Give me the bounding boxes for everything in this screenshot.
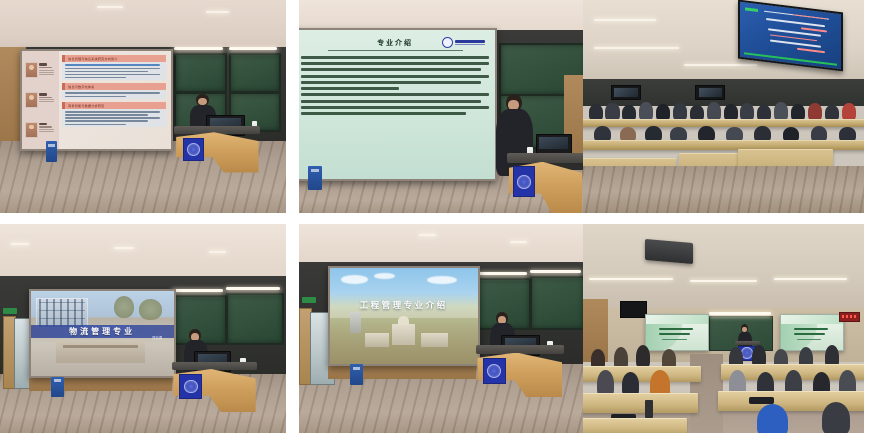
slide-surface: 信息管理与信息系统研究方向简介 信息与数字化体系 (22, 51, 171, 149)
auditorium-scene (583, 0, 864, 213)
logo-line-secondary (455, 44, 485, 45)
body-line (301, 87, 399, 90)
logistics-major-slide: 物流管理专业 郑自源 (31, 291, 174, 377)
building-wing-right (421, 333, 448, 346)
university-logo (442, 37, 485, 48)
campus-gate (56, 340, 145, 362)
display-text-line-red (792, 15, 826, 21)
board-light-right (530, 270, 581, 273)
ceiling (583, 224, 864, 312)
podium-crest-banner[interactable] (179, 374, 202, 399)
faculty-card (25, 122, 56, 138)
podium (172, 362, 258, 412)
bullet-line (65, 68, 160, 70)
title-underline (328, 50, 463, 51)
recycle-bin (46, 141, 57, 162)
faculty-line (39, 101, 55, 102)
screen-header-band (646, 315, 708, 324)
podium-crest-banner[interactable] (513, 166, 535, 197)
student (589, 104, 603, 121)
body-line (301, 100, 481, 103)
bullet-line (65, 120, 147, 122)
faculty-line (39, 129, 55, 130)
bullet-line (65, 111, 160, 113)
faculty-text (39, 122, 56, 133)
ceiling-light-3 (684, 64, 757, 66)
slide-section: 信息管理与信息系统研究方向简介 (62, 55, 166, 80)
portrait-photo (25, 62, 38, 78)
student (791, 104, 805, 121)
faculty-line (39, 99, 55, 100)
building-wing-left (365, 333, 389, 346)
main-hall-dome (398, 316, 408, 326)
slide-surface: 专业介绍 (299, 30, 495, 179)
photo-panel-bottom-right (583, 224, 864, 433)
body-line (301, 75, 489, 78)
projection-screen: 专业介绍 (299, 28, 497, 181)
cloud (427, 276, 457, 284)
board-light-left (172, 289, 223, 292)
faculty-line (39, 74, 55, 75)
body-line (301, 112, 466, 115)
slide-tag-icon (745, 8, 758, 13)
podium-crest-banner[interactable] (183, 138, 204, 162)
board-light-left (174, 47, 223, 50)
projection-screen: 物流管理专业 郑自源 (29, 289, 176, 379)
bullet-line (65, 92, 160, 94)
tablet-device (749, 397, 774, 403)
student (622, 105, 636, 121)
display-text-line (770, 40, 821, 48)
bullet-line (65, 124, 126, 126)
board-light (709, 312, 771, 315)
body-line (301, 106, 489, 109)
slide-surface: 物流管理专业 郑自源 (31, 291, 174, 377)
slide-body (301, 56, 489, 116)
projection-screen: 信息管理与信息系统研究方向简介 信息与数字化体系 (20, 49, 173, 151)
podium (174, 126, 260, 173)
faculty-text (39, 62, 56, 75)
podium-top (507, 153, 584, 163)
ceiling-light-2 (206, 11, 229, 13)
slide-title: 物流管理专业 (69, 326, 135, 337)
screen-title-line (659, 333, 690, 335)
ceiling-light-2 (510, 241, 527, 243)
section-body (62, 90, 166, 99)
lecture-hall-scene: 工程管理专业介绍 (299, 224, 584, 433)
lecture-hall-scene: 物流管理专业 郑自源 (0, 224, 286, 433)
section-heading: 信息管理与信息系统研究方向简介 (62, 55, 166, 62)
university-crest-icon (187, 143, 200, 156)
presenter-monitor (536, 134, 572, 155)
lecture-hall-scene: 信息管理与信息系统研究方向简介 信息与数字化体系 (0, 0, 286, 213)
recycle-bin (350, 364, 363, 385)
slide-surface: 工程管理专业介绍 (330, 268, 478, 364)
section-heading: 信息与数字化体系 (62, 83, 166, 90)
faculty-name (39, 63, 47, 65)
recycle-bin (308, 166, 322, 189)
slide-section: 信息与数字化体系 (62, 83, 166, 99)
classroom-scene (583, 224, 864, 433)
body-line (301, 68, 481, 71)
podium-top (172, 362, 258, 371)
screen-header-band (781, 315, 843, 324)
slide-title: 工程管理专业介绍 (330, 299, 478, 311)
student (690, 105, 704, 121)
podium-top (174, 126, 260, 134)
student (757, 404, 788, 433)
bullet-line (65, 71, 147, 73)
podium (507, 153, 584, 213)
logo-line-primary (455, 40, 485, 43)
slide-subtitle: 郑自源 (152, 335, 162, 340)
tree (139, 299, 162, 320)
ceiling (0, 224, 286, 280)
bullet-line (65, 64, 160, 66)
body-line (301, 62, 489, 65)
faculty-subtitle (39, 67, 52, 68)
section-column: 信息管理与信息系统研究方向简介 信息与数字化体系 (59, 51, 171, 149)
ceiling (299, 224, 584, 266)
chalkboard-right (226, 293, 284, 345)
bullet-line (65, 96, 126, 98)
recycle-bin (51, 377, 64, 398)
exit-sign-icon (302, 297, 316, 303)
student (740, 103, 754, 121)
side-monitor-left (611, 85, 641, 100)
photo-panel-top-right (583, 0, 864, 213)
board-light-left (476, 272, 527, 275)
student (673, 103, 687, 121)
projection-screen: 工程管理专业介绍 (328, 266, 480, 366)
cloud (374, 273, 395, 280)
faculty-line (39, 72, 55, 73)
photo-grid: 信息管理与信息系统研究方向简介 信息与数字化体系 (0, 0, 874, 433)
led-banner-sign (839, 312, 861, 322)
faculty-card (25, 62, 56, 78)
student (724, 104, 738, 121)
photo-panel-bottom-left: 物流管理专业 郑自源 (0, 224, 286, 433)
exit-sign-icon (3, 308, 17, 314)
body-line (301, 93, 489, 96)
university-crest-icon (487, 364, 501, 378)
faculty-research-slide: 信息管理与信息系统研究方向简介 信息与数字化体系 (22, 51, 171, 149)
screen-title-line (794, 333, 825, 335)
student (707, 102, 721, 121)
faculty-name (39, 123, 47, 125)
tree (114, 296, 134, 318)
cloud (341, 275, 368, 284)
faculty-line (39, 131, 55, 132)
board-light-right (226, 287, 280, 290)
body-line (301, 56, 489, 59)
bullet-line (65, 77, 126, 79)
logo-wordmark (455, 40, 485, 45)
section-body (62, 62, 166, 80)
faculty-line (39, 70, 55, 71)
side-monitor (620, 301, 647, 318)
podium-top (735, 341, 760, 345)
faculty-card (25, 92, 56, 108)
floor (583, 166, 864, 213)
logo-ring-icon (442, 37, 453, 48)
thermos-cup (645, 400, 653, 419)
display-text-line-red (800, 28, 826, 33)
desk-row (583, 393, 698, 413)
student (757, 105, 771, 121)
photo-panel-bottom-middle: 工程管理专业介绍 (299, 224, 584, 433)
student (774, 102, 788, 121)
student (639, 102, 653, 121)
student (825, 105, 839, 121)
podium-crest-banner[interactable] (483, 358, 506, 384)
lecture-hall-scene: 专业介绍 (299, 0, 584, 213)
bullet-line (65, 117, 160, 119)
podium-top (476, 345, 564, 354)
display-text-line (766, 19, 825, 28)
ceiling-light-2 (114, 247, 134, 249)
faculty-name (39, 93, 47, 95)
ceiling-light-1 (11, 243, 28, 245)
slide-section: 商务智能与数据分析研究 (62, 102, 166, 127)
student (808, 103, 822, 121)
photo-panel-top-middle: 专业介绍 (299, 0, 584, 213)
chalkboard-right (530, 276, 584, 330)
ceiling-light-1 (594, 19, 656, 21)
body-line (301, 81, 481, 84)
student (842, 103, 856, 121)
university-crest-icon (517, 175, 531, 189)
faculty-subtitle (39, 97, 52, 98)
campus-building (350, 312, 360, 333)
podium (476, 345, 564, 397)
presentation-screen-left (645, 314, 709, 352)
ceiling-light-3 (209, 251, 226, 253)
engineering-major-slide: 工程管理专业介绍 (330, 268, 478, 364)
student (605, 103, 619, 121)
faculty-text (39, 92, 56, 103)
student (822, 402, 850, 433)
bullet-line (65, 74, 160, 76)
student (656, 104, 670, 121)
ceiling-light-2 (594, 47, 678, 49)
major-introduction-slide: 专业介绍 (299, 30, 495, 179)
board-light-right (229, 47, 278, 50)
photo-panel-top-left: 信息管理与信息系统研究方向简介 信息与数字化体系 (0, 0, 286, 213)
chalkboard-right (229, 53, 282, 93)
main-hall-base (392, 324, 416, 345)
desk-row (583, 418, 687, 433)
portrait-column (22, 51, 59, 149)
bullet-line (65, 114, 147, 116)
portrait-photo (25, 92, 38, 108)
ceiling-projector (645, 239, 693, 264)
section-heading: 商务智能与数据分析研究 (62, 102, 166, 109)
display-text-line-red (796, 48, 824, 53)
chalkboard-left (174, 53, 227, 93)
portrait-photo (25, 122, 38, 138)
side-monitor-right (695, 85, 725, 100)
faculty-subtitle (39, 126, 52, 127)
campus-building (36, 298, 87, 329)
section-body (62, 109, 166, 127)
university-crest-icon (184, 380, 198, 394)
student (636, 345, 650, 368)
